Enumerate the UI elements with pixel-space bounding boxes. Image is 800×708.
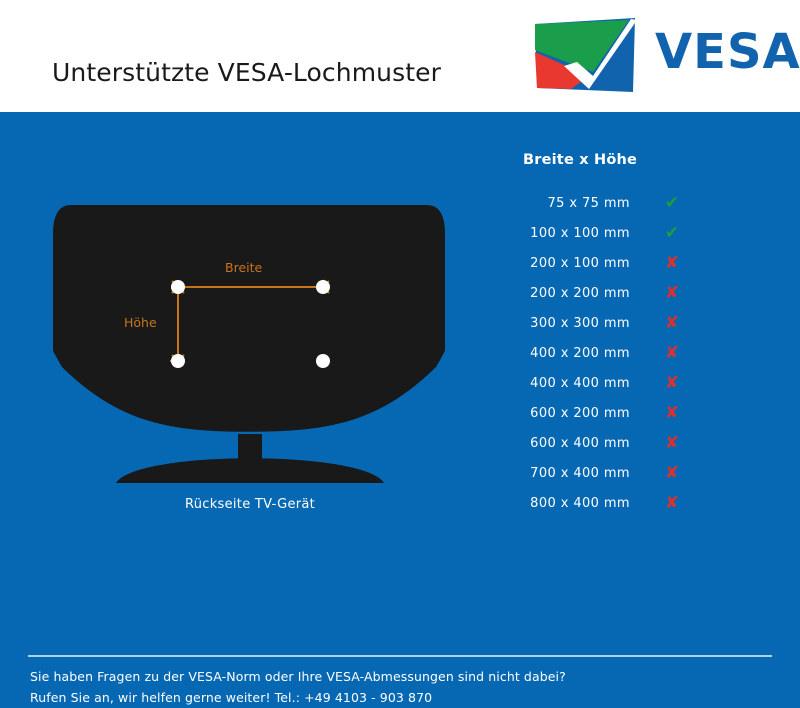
tv-stand-base xyxy=(116,458,384,483)
footer-line-1: Sie haben Fragen zu der VESA-Norm oder I… xyxy=(30,666,780,687)
pattern-size-label: 600 x 200 mm xyxy=(480,406,630,421)
header-bar: Unterstützte VESA-Lochmuster VESA xyxy=(0,0,800,112)
table-row: 600 x 400 mm ✘ xyxy=(480,428,780,458)
pattern-size-label: 700 x 400 mm xyxy=(480,466,630,481)
table-row: 200 x 100 mm ✘ xyxy=(480,248,780,278)
pattern-size-label: 800 x 400 mm xyxy=(480,496,630,511)
support-cross-icon: ✘ xyxy=(652,375,692,392)
table-row: 400 x 400 mm ✘ xyxy=(480,368,780,398)
support-cross-icon: ✘ xyxy=(652,495,692,512)
support-check-icon: ✔ xyxy=(652,195,692,212)
table-row: 75 x 75 mm ✔ xyxy=(480,188,780,218)
mount-hole-top-left xyxy=(171,280,185,294)
table-row: 400 x 200 mm ✘ xyxy=(480,338,780,368)
support-cross-icon: ✘ xyxy=(652,345,692,362)
pattern-size-label: 300 x 300 mm xyxy=(480,316,630,331)
footer-contact-text: Sie haben Fragen zu der VESA-Norm oder I… xyxy=(30,666,780,708)
table-row: 600 x 200 mm ✘ xyxy=(480,398,780,428)
table-row: 300 x 300 mm ✘ xyxy=(480,308,780,338)
table-row: 700 x 400 mm ✘ xyxy=(480,458,780,488)
pattern-size-label: 100 x 100 mm xyxy=(480,226,630,241)
support-check-icon: ✔ xyxy=(652,225,692,242)
page-title: Unterstützte VESA-Lochmuster xyxy=(52,58,441,87)
vesa-logo-mark-icon xyxy=(531,18,637,94)
tv-stand-neck xyxy=(238,434,262,462)
mount-hole-bottom-right xyxy=(316,354,330,368)
footer-line-2: Rufen Sie an, wir helfen gerne weiter! T… xyxy=(30,687,780,708)
support-cross-icon: ✘ xyxy=(652,435,692,452)
pattern-size-label: 200 x 100 mm xyxy=(480,256,630,271)
pattern-size-label: 75 x 75 mm xyxy=(480,196,630,211)
pattern-size-label: 400 x 200 mm xyxy=(480,346,630,361)
support-cross-icon: ✘ xyxy=(652,255,692,272)
table-column-header: Breite x Höhe xyxy=(523,152,780,168)
support-cross-icon: ✘ xyxy=(652,315,692,332)
vesa-pattern-infographic: Unterstützte VESA-Lochmuster VESA xyxy=(0,0,800,600)
tv-caption: Rückseite TV-Gerät xyxy=(40,497,460,512)
pattern-size-label: 600 x 400 mm xyxy=(480,436,630,451)
height-label: Höhe xyxy=(124,315,157,330)
mount-hole-top-right xyxy=(316,280,330,294)
footer-divider xyxy=(28,655,772,657)
mount-hole-bottom-left xyxy=(171,354,185,368)
support-cross-icon: ✘ xyxy=(652,285,692,302)
table-row: 100 x 100 mm ✔ xyxy=(480,218,780,248)
vesa-wordmark: VESA xyxy=(655,28,800,76)
support-cross-icon: ✘ xyxy=(652,465,692,482)
main-body: Breite Höhe Rückseite TV-Gerät Breite x … xyxy=(0,112,800,600)
width-label: Breite xyxy=(225,260,262,275)
vesa-pattern-table: Breite x Höhe 75 x 75 mm ✔ 100 x 100 mm … xyxy=(480,152,780,518)
table-row: 200 x 200 mm ✘ xyxy=(480,278,780,308)
pattern-size-label: 400 x 400 mm xyxy=(480,376,630,391)
tv-back-illustration: Breite Höhe xyxy=(40,192,460,522)
support-cross-icon: ✘ xyxy=(652,405,692,422)
pattern-size-label: 200 x 200 mm xyxy=(480,286,630,301)
table-row: 800 x 400 mm ✘ xyxy=(480,488,780,518)
